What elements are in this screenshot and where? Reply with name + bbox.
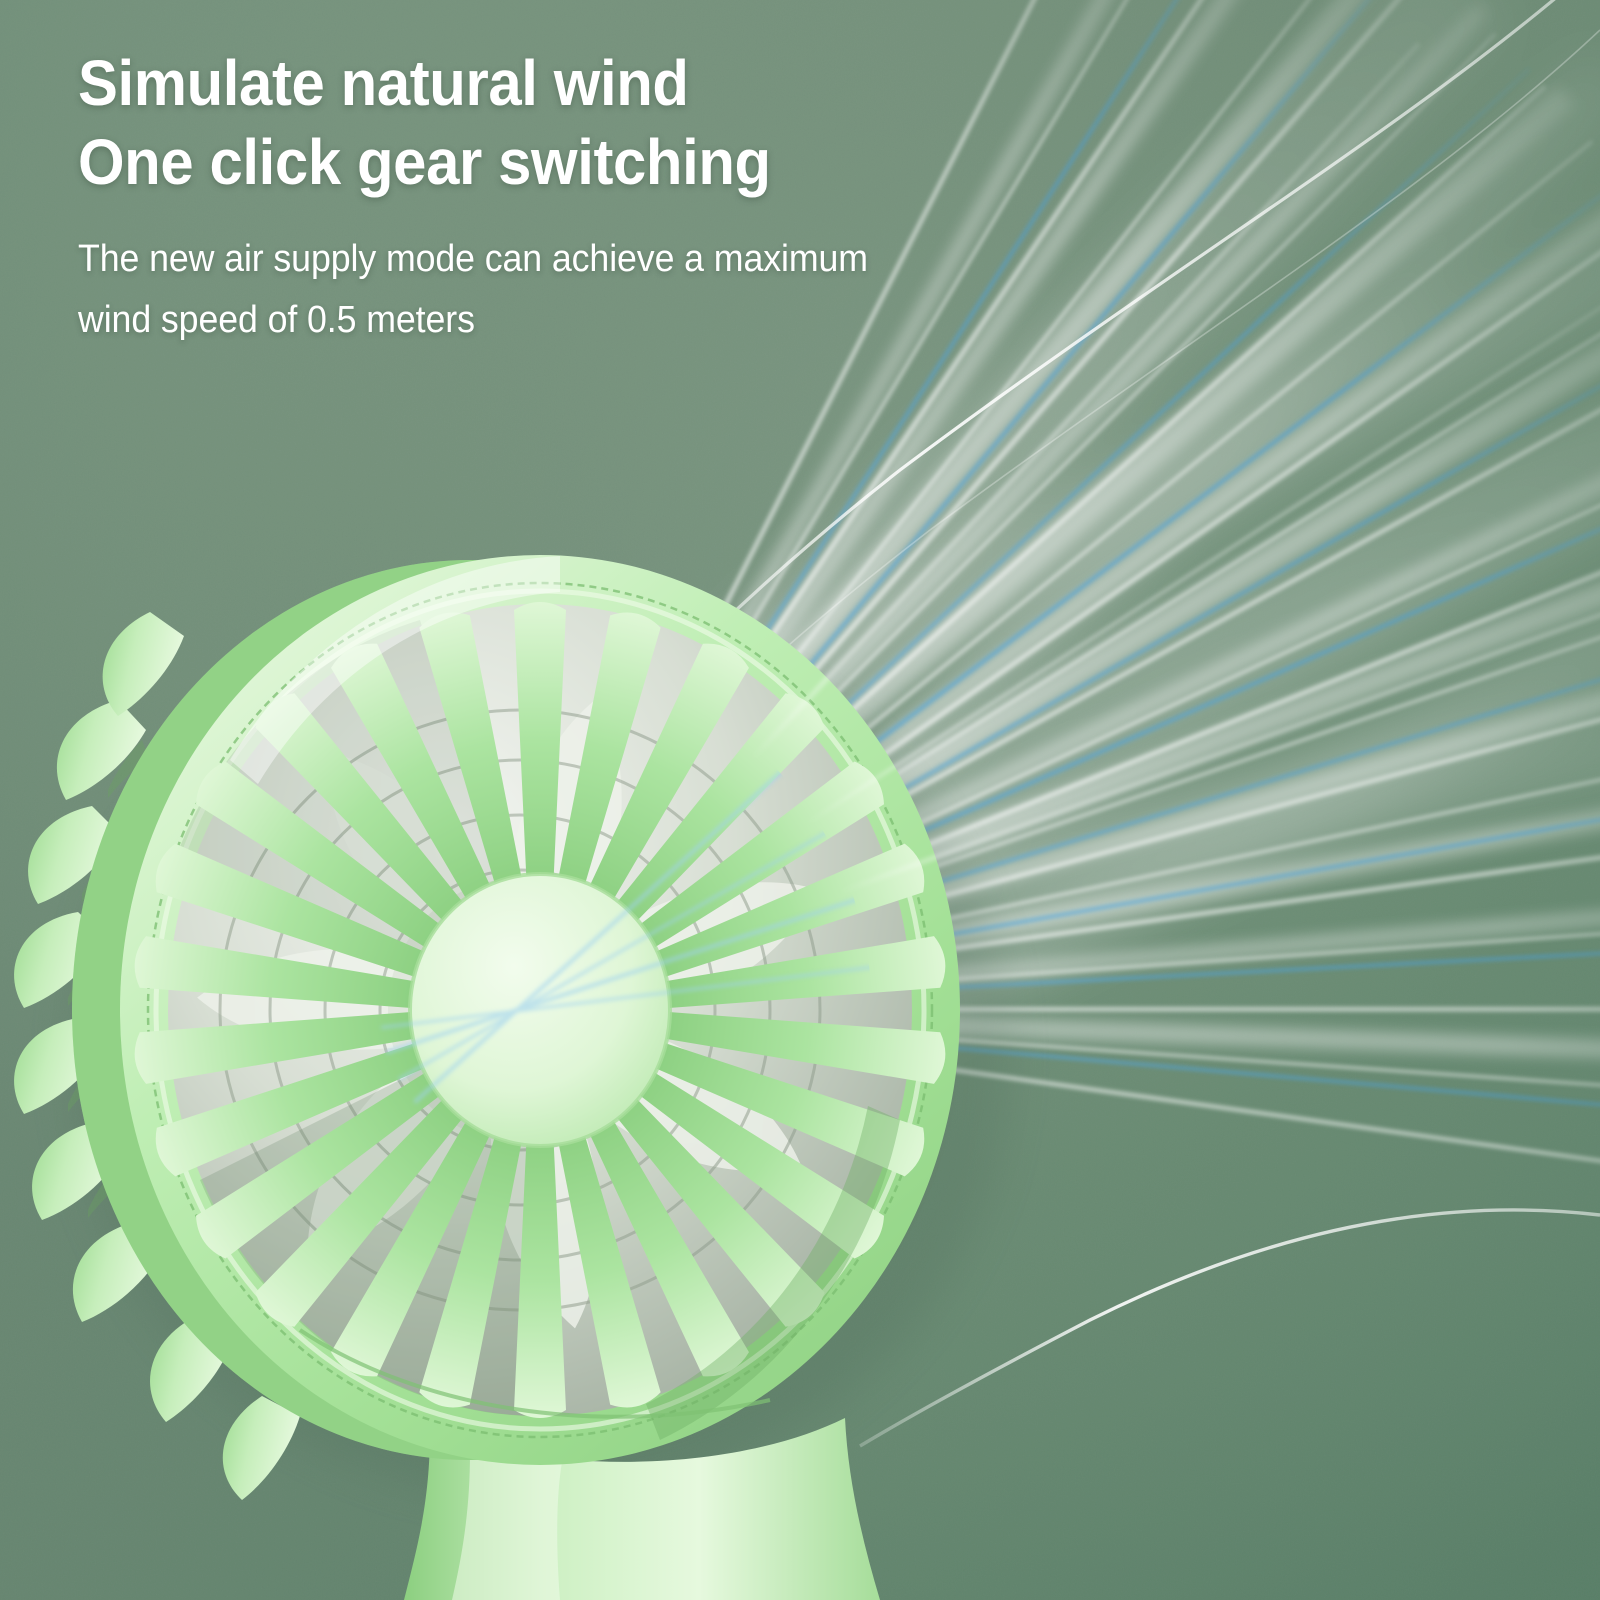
product-banner: Simulate natural wind One click gear swi… [0,0,1600,1600]
artwork-layer [0,0,1600,1600]
plume-lower-edge-line [860,1210,1600,1446]
